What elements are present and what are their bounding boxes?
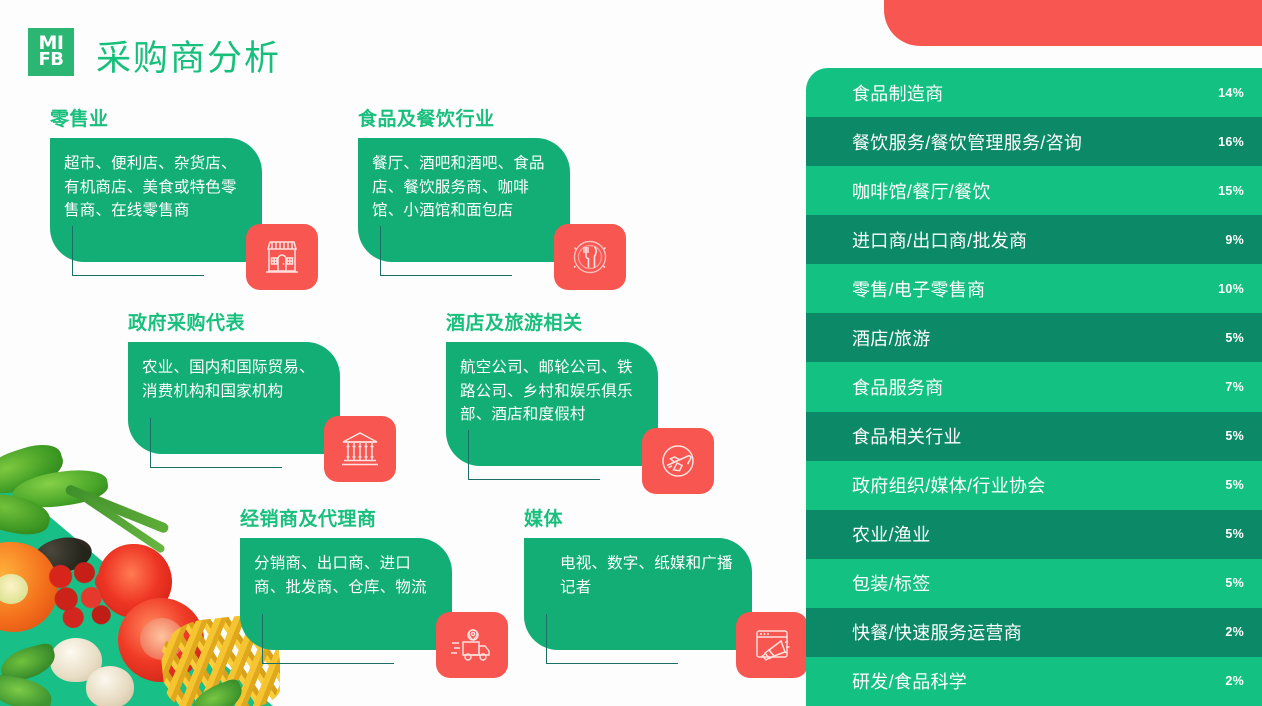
bank-building-icon [339, 430, 381, 468]
card-retail: 零售业 超市、便利店、杂货店、有机商店、美食或特色零售商、在线零售商 [50, 104, 262, 262]
card-connector-line [262, 614, 394, 664]
stat-row[interactable]: 农业/渔业 5% [806, 510, 1262, 559]
storefront-icon [262, 238, 302, 276]
stat-label: 包装/标签 [852, 570, 1198, 596]
card-body: 航空公司、邮轮公司、铁路公司、乡村和娱乐俱乐部、酒店和度假村 [446, 342, 658, 466]
stat-row[interactable]: 包装/标签 5% [806, 559, 1262, 608]
tomato-slice-icon [118, 598, 204, 682]
rosemary-icon [64, 484, 170, 534]
tomato-half-icon [98, 544, 172, 618]
card-heading: 酒店及旅游相关 [446, 308, 658, 335]
card-body: 电视、数字、纸媒和广播记者 [524, 538, 752, 650]
stat-value: 5% [1198, 527, 1244, 541]
card-text: 农业、国内和国际贸易、消费机构和国家机构 [142, 356, 326, 403]
card-heading: 媒体 [524, 504, 752, 531]
card-icon-badge[interactable] [736, 612, 808, 678]
card-connector-line [546, 614, 678, 664]
stat-label: 快餐/快速服务运营商 [852, 619, 1198, 645]
card-distributors: 经销商及代理商 分销商、出口商、进口商、批发商、仓库、物流 [240, 504, 452, 650]
delivery-truck-icon [449, 626, 495, 664]
stat-row[interactable]: 餐饮服务/餐饮管理服务/咨询 16% [806, 117, 1262, 166]
stat-value: 16% [1198, 135, 1244, 149]
stat-row[interactable]: 零售/电子零售商 10% [806, 264, 1262, 313]
card-body: 农业、国内和国际贸易、消费机构和国家机构 [128, 342, 340, 454]
card-text: 电视、数字、纸媒和广播记者 [560, 552, 738, 599]
stat-value: 5% [1198, 331, 1244, 345]
tomato-seed-icon [140, 618, 184, 660]
stat-row[interactable]: 酒店/旅游 5% [806, 313, 1262, 362]
card-heading: 食品及餐饮行业 [358, 104, 570, 131]
stat-row[interactable]: 快餐/快速服务运营商 2% [806, 608, 1262, 657]
stat-label: 食品服务商 [852, 374, 1198, 400]
card-heading: 经销商及代理商 [240, 504, 452, 531]
stat-label: 食品相关行业 [852, 423, 1198, 449]
card-connector-line [72, 226, 204, 276]
stat-value: 14% [1198, 86, 1244, 100]
green-pepper-icon [10, 465, 110, 512]
stat-value: 2% [1198, 625, 1244, 639]
red-accent-tab [884, 0, 1262, 46]
stat-value: 5% [1198, 429, 1244, 443]
stat-label: 食品制造商 [852, 80, 1198, 106]
card-connector-line [468, 430, 600, 480]
card-icon-badge[interactable] [642, 428, 714, 494]
bell-pepper-core-icon [0, 574, 28, 604]
card-text: 分销商、出口商、进口商、批发商、仓库、物流 [254, 552, 438, 599]
stat-row[interactable]: 研发/食品科学 2% [806, 657, 1262, 706]
card-connector-line [380, 226, 512, 276]
stat-value: 2% [1198, 674, 1244, 688]
stat-label: 零售/电子零售商 [852, 276, 1198, 302]
card-media: 媒体 电视、数字、纸媒和广播记者 [524, 504, 752, 650]
slide-root: MI FB 采购商分析 零售业 超市、便利店、杂货店、有机商店、美食或特色零售商… [0, 0, 1262, 706]
stat-label: 研发/食品科学 [852, 668, 1198, 694]
stat-label: 政府组织/媒体/行业协会 [852, 472, 1198, 498]
stat-value: 15% [1198, 184, 1244, 198]
plate-cutlery-icon [569, 237, 611, 277]
card-hotel-travel: 酒店及旅游相关 航空公司、邮轮公司、铁路公司、乡村和娱乐俱乐部、酒店和度假村 [446, 308, 658, 466]
stat-label: 进口商/出口商/批发商 [852, 227, 1198, 253]
card-text: 航空公司、邮轮公司、铁路公司、乡村和娱乐俱乐部、酒店和度假村 [460, 356, 644, 427]
card-heading: 政府采购代表 [128, 308, 340, 335]
stat-row[interactable]: 政府组织/媒体/行业协会 5% [806, 461, 1262, 510]
bell-pepper-icon [0, 542, 58, 632]
mushroom-icon [50, 638, 102, 682]
mifb-logo: MI FB [28, 28, 74, 76]
basil-leaf-icon [0, 642, 59, 685]
stat-row[interactable]: 食品服务商 7% [806, 362, 1262, 411]
stat-label: 餐饮服务/餐饮管理服务/咨询 [852, 129, 1198, 155]
card-body: 超市、便利店、杂货店、有机商店、美食或特色零售商、在线零售商 [50, 138, 262, 262]
stat-row[interactable]: 进口商/出口商/批发商 9% [806, 215, 1262, 264]
diced-pepper-icon [48, 562, 118, 628]
card-body: 餐厅、酒吧和酒吧、食品店、餐饮服务商、咖啡馆、小酒馆和面包店 [358, 138, 570, 262]
megaphone-browser-icon [751, 626, 793, 664]
card-government: 政府采购代表 农业、国内和国际贸易、消费机构和国家机构 [128, 308, 340, 454]
page-title: 采购商分析 [96, 30, 281, 81]
stats-panel: 食品制造商 14% 餐饮服务/餐饮管理服务/咨询 16% 咖啡馆/餐厅/餐饮 1… [806, 68, 1262, 706]
stat-row[interactable]: 食品制造商 14% [806, 68, 1262, 117]
card-icon-badge[interactable] [324, 416, 396, 482]
green-pepper-icon [0, 488, 53, 539]
card-icon-badge[interactable] [246, 224, 318, 290]
stat-label: 酒店/旅游 [852, 325, 1198, 351]
peppercorn-icon [31, 533, 94, 577]
stat-label: 咖啡馆/餐厅/餐饮 [852, 178, 1198, 204]
stat-row[interactable]: 咖啡馆/餐厅/餐饮 15% [806, 166, 1262, 215]
card-heading: 零售业 [50, 104, 262, 131]
stat-value: 9% [1198, 233, 1244, 247]
stat-value: 10% [1198, 282, 1244, 296]
card-body: 分销商、出口商、进口商、批发商、仓库、物流 [240, 538, 452, 650]
stat-label: 农业/渔业 [852, 521, 1198, 547]
stat-value: 5% [1198, 478, 1244, 492]
card-text: 餐厅、酒吧和酒吧、食品店、餐饮服务商、咖啡馆、小酒馆和面包店 [372, 152, 556, 223]
stat-value: 7% [1198, 380, 1244, 394]
card-icon-badge[interactable] [554, 224, 626, 290]
rosemary-icon [82, 494, 166, 554]
basil-leaf-icon [0, 674, 54, 706]
green-pepper-icon [0, 438, 68, 503]
stat-value: 5% [1198, 576, 1244, 590]
mushroom-icon [86, 666, 134, 706]
basil-leaf-icon [187, 677, 248, 706]
card-text: 超市、便利店、杂货店、有机商店、美食或特色零售商、在线零售商 [64, 152, 248, 223]
stat-row[interactable]: 食品相关行业 5% [806, 412, 1262, 461]
airplane-circle-icon [657, 441, 699, 481]
card-icon-badge[interactable] [436, 612, 508, 678]
card-food-beverage: 食品及餐饮行业 餐厅、酒吧和酒吧、食品店、餐饮服务商、咖啡馆、小酒馆和面包店 [358, 104, 570, 262]
logo-line-2: FB [38, 52, 63, 69]
card-connector-line [150, 418, 282, 468]
